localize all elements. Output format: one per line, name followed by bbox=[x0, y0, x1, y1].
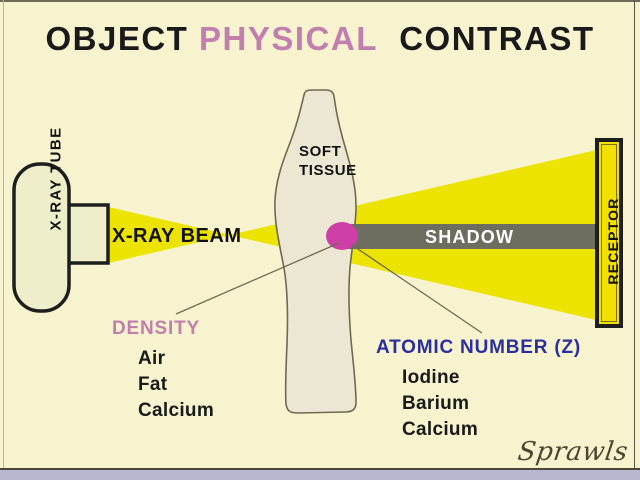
list-item: Iodine bbox=[402, 365, 581, 391]
frame-bottom-strip bbox=[0, 470, 640, 480]
list-item: Calcium bbox=[138, 398, 214, 424]
callout-density: DENSITY Air Fat Calcium bbox=[112, 318, 214, 424]
soft-tissue-label-line1: SOFT bbox=[299, 142, 357, 161]
callout-density-heading: DENSITY bbox=[112, 318, 214, 340]
list-item: Fat bbox=[138, 372, 214, 398]
callout-atomic-number-list: Iodine Barium Calcium bbox=[402, 365, 581, 443]
xray-beam-label: X-RAY BEAM bbox=[112, 225, 241, 248]
callout-atomic-number-heading: ATOMIC NUMBER (Z) bbox=[376, 337, 581, 359]
shadow-label: SHADOW bbox=[425, 227, 514, 248]
receptor-label: RECEPTOR bbox=[605, 191, 621, 291]
author-signature: Sprawls bbox=[516, 437, 630, 467]
collimator-shape bbox=[68, 205, 108, 263]
slide-title: OBJECT PHYSICAL CONTRAST bbox=[0, 20, 640, 58]
frame-left-line bbox=[3, 0, 4, 470]
slide-canvas: OBJECT PHYSICAL CONTRAST X-RAY TUBE X-RA… bbox=[0, 0, 640, 480]
soft-tissue-label-line2: TISSUE bbox=[299, 161, 357, 180]
callout-atomic-number: ATOMIC NUMBER (Z) Iodine Barium Calcium bbox=[376, 337, 581, 443]
callout-density-list: Air Fat Calcium bbox=[138, 346, 214, 424]
title-word-object: OBJECT bbox=[45, 20, 188, 57]
list-item: Barium bbox=[402, 391, 581, 417]
frame-right-line bbox=[634, 0, 635, 470]
xray-tube-label: X-RAY TUBE bbox=[48, 131, 65, 231]
soft-tissue-shape bbox=[275, 90, 356, 413]
list-item: Air bbox=[138, 346, 214, 372]
frame-top-line bbox=[0, 0, 640, 2]
title-word-physical: PHYSICAL bbox=[199, 20, 378, 57]
title-word-contrast: CONTRAST bbox=[399, 20, 594, 57]
soft-tissue-label: SOFT TISSUE bbox=[299, 142, 357, 180]
